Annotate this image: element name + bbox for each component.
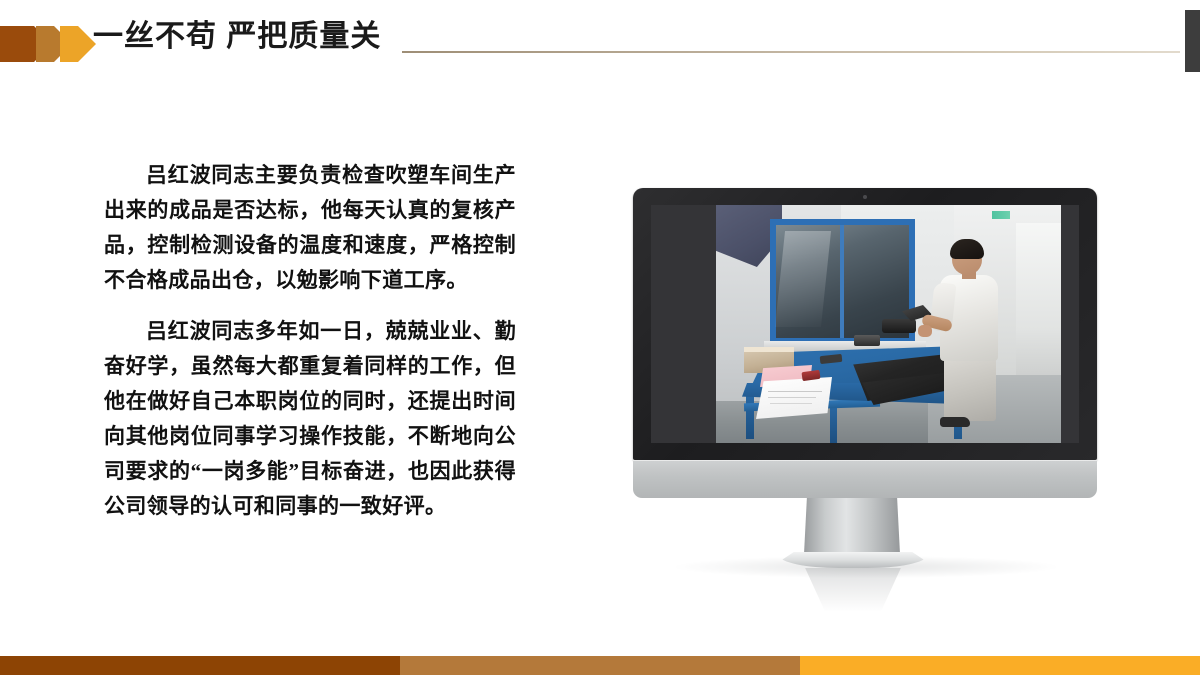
photo-paper-line-2 [768, 397, 816, 398]
photo-tool-3 [854, 335, 880, 346]
webcam-icon [863, 195, 867, 199]
chevron-arrow-group [0, 26, 96, 62]
monitor-mockup [633, 188, 1097, 460]
monitor-reflection [790, 568, 916, 612]
paragraph-2: 吕红波同志多年如一日，兢兢业业、勤奋好学，虽然每大都重复着同样的工作，但他在做好… [104, 314, 516, 524]
photo-paper-line-1 [768, 391, 822, 392]
footer-segment-dark-brown [0, 656, 400, 675]
body-text-column: 吕红波同志主要负责检查吹塑车间生产出来的成品是否达标，他每天认真的复核产品，控制… [104, 158, 516, 540]
monitor-frame [633, 188, 1097, 460]
photo-worker-hair [950, 239, 984, 259]
photo-tool-4 [882, 319, 916, 333]
paragraph-1: 吕红波同志主要负责检查吹塑车间生产出来的成品是否达标，他每天认真的复核产品，控制… [104, 158, 516, 298]
photo-worker-hand [918, 325, 932, 337]
slide-canvas: 一丝不苟 严把质量关 吕红波同志主要负责检查吹塑车间生产出来的成品是否达标，他每… [0, 0, 1200, 675]
photo-worker-pants [944, 355, 996, 421]
monitor-stand-neck [804, 498, 900, 554]
chevron-arrows-icon [0, 26, 96, 62]
photo-worker-shoe [940, 417, 970, 427]
slide-footer-bar [0, 656, 1200, 675]
photo-box-lip [744, 347, 794, 352]
photo-window-mullion [840, 225, 844, 338]
photo-paper-line-3 [770, 403, 812, 404]
page-title: 一丝不苟 严把质量关 [93, 18, 381, 56]
footer-segment-gold [800, 656, 1200, 675]
header-corner-tab [1185, 10, 1200, 72]
workshop-photo [716, 205, 1061, 443]
footer-segment-medium-brown [400, 656, 800, 675]
slide-header: 一丝不苟 严把质量关 [0, 0, 1200, 90]
monitor-screen [651, 205, 1079, 443]
photo-white-papers [756, 377, 832, 419]
title-underline-rule [402, 51, 1180, 53]
monitor-chin-bezel [633, 460, 1097, 498]
photo-bench-leg-1 [746, 391, 754, 439]
photo-green-light [992, 211, 1010, 219]
